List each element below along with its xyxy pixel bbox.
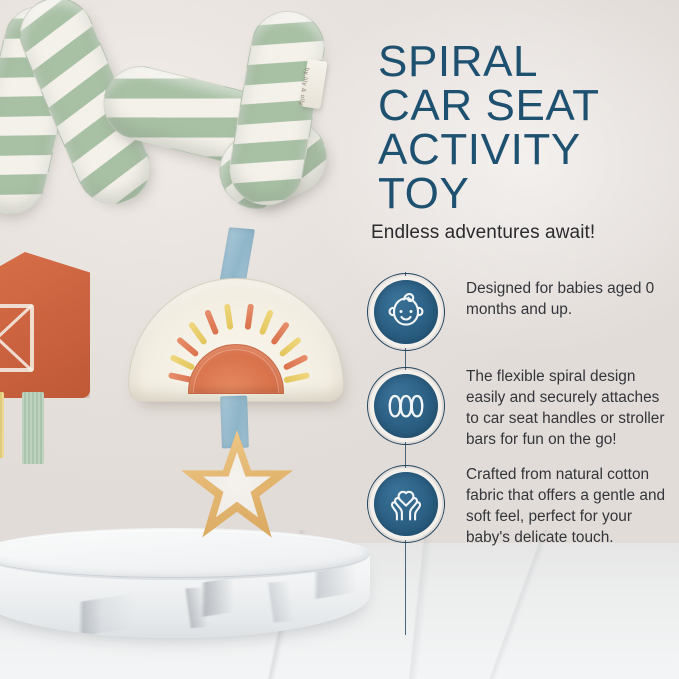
feature-text-spiral: The flexible spiral design easily and se… <box>446 366 675 450</box>
ribbon-tag-sage <box>22 392 44 464</box>
title-line-4: TOY <box>378 172 670 216</box>
feature-list: Designed for babies aged 0 months and up… <box>365 272 675 548</box>
sunburst-plush-toy <box>128 278 344 402</box>
title-line-3: ACTIVITY <box>378 128 670 172</box>
feature-item-age: Designed for babies aged 0 months and up… <box>365 272 675 352</box>
feature-item-spiral: The flexible spiral design easily and se… <box>365 366 675 450</box>
barn-plush-toy <box>0 252 90 452</box>
feature-item-fabric: Crafted from natural cotton fabric that … <box>365 464 675 548</box>
page-title: SPIRAL CAR SEAT ACTIVITY TOY <box>378 40 670 216</box>
feature-text-fabric: Crafted from natural cotton fabric that … <box>446 464 675 548</box>
product-photo: by lily & olly <box>0 0 368 679</box>
star-teether-ring <box>181 430 293 542</box>
title-line-2: CAR SEAT <box>378 84 670 128</box>
subtitle: Endless adventures await! <box>371 222 671 244</box>
marble-pedestal <box>0 528 370 654</box>
baby-face-icon <box>366 272 446 352</box>
barn-door-stitching <box>0 304 34 372</box>
promo-image: by lily & olly SPIRAL CA <box>0 0 679 679</box>
spiral-coil-icon <box>366 366 446 446</box>
ribbon-tag-yellow <box>0 392 4 458</box>
title-line-1: SPIRAL <box>378 40 670 84</box>
hands-holding-heart-icon <box>366 464 446 544</box>
barn-body <box>0 252 90 398</box>
striped-spiral-coil: by lily & olly <box>0 0 354 236</box>
feature-text-age: Designed for babies aged 0 months and up… <box>446 272 675 320</box>
